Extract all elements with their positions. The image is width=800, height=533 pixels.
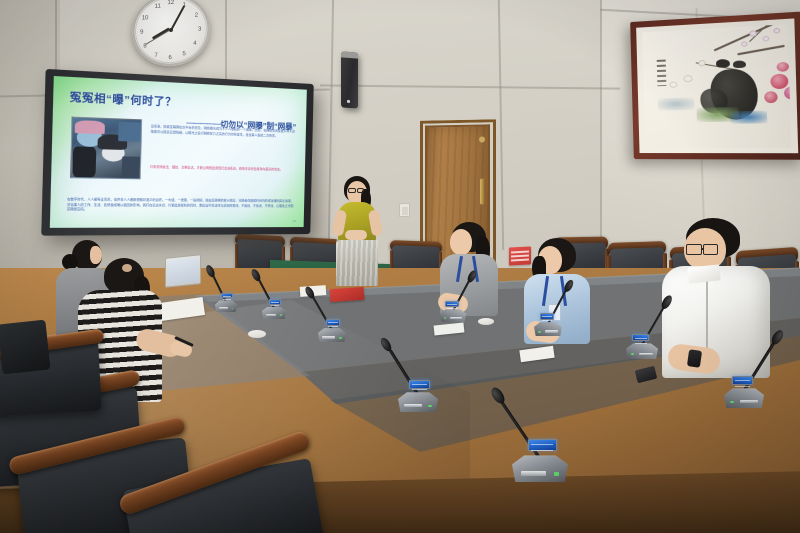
delegate-microphone[interactable]	[724, 374, 764, 408]
screen-panel: 冤冤相“曝”何时了？ —————切勿以“网曝”制“网暴” 近年来，随着互联网社交…	[50, 76, 307, 228]
delegate-microphone[interactable]	[626, 332, 658, 359]
handbag[interactable]	[0, 320, 50, 375]
eyeglasses	[703, 244, 718, 255]
speaker-led-icon	[347, 100, 350, 103]
clock-numeral: 4	[193, 41, 196, 47]
clock-numeral: 2	[195, 13, 198, 19]
wall-panel-corner	[600, 0, 602, 270]
attendee-right-1	[438, 222, 510, 342]
attendee-right-3	[662, 218, 790, 393]
slide-photo	[70, 117, 142, 180]
chinese-painting	[630, 12, 800, 160]
speaker-bracket	[341, 51, 358, 58]
delegate-microphone[interactable]	[512, 436, 568, 482]
slide-footer-paragraph: 在数字时代，人人都有麦克风，但并非人人都能把握好发声的边界。一句话、一张图、一段…	[67, 197, 295, 213]
clock-numeral: 9	[140, 29, 143, 35]
delegate-microphone[interactable]	[215, 292, 237, 312]
clock-numeral: 7	[154, 53, 157, 59]
delegate-microphone[interactable]	[534, 312, 562, 336]
conference-room-photo: 12 1 2 3 4 5 6 7 8 9 10 11	[0, 0, 800, 533]
light-switch[interactable]	[399, 203, 410, 217]
clock-numeral: 11	[155, 3, 161, 9]
clock-numeral: 3	[198, 26, 201, 32]
clock-numeral: 12	[167, 0, 174, 6]
presentation-slide: 冤冤相“曝”何时了？ —————切勿以“网曝”制“网暴” 近年来，随着互联网社交…	[50, 76, 307, 228]
delegate-microphone[interactable]	[262, 298, 286, 319]
smartwatch	[687, 349, 702, 368]
eyeglasses	[686, 244, 702, 255]
drinking-cup[interactable]	[248, 330, 266, 338]
wall-speaker	[341, 51, 358, 108]
wall-panel-seam	[225, 0, 227, 90]
shirt-collar	[687, 264, 720, 283]
delegate-microphone[interactable]	[440, 300, 466, 322]
door-handle-icon[interactable]	[480, 178, 484, 204]
delegate-microphone[interactable]	[318, 318, 346, 342]
painting-artwork	[642, 24, 791, 148]
clock-numeral: 6	[168, 55, 171, 61]
clock-numeral: 5	[182, 51, 185, 57]
presenter	[328, 176, 390, 296]
painting-signature	[657, 60, 667, 87]
projection-screen[interactable]: 冤冤相“曝”何时了？ —————切勿以“网曝”制“网暴” 近年来，随着互联网社交…	[41, 69, 314, 236]
attendee-right-2	[524, 238, 604, 368]
delegate-microphone[interactable]	[398, 378, 438, 412]
slide-page-number: 12	[293, 219, 296, 223]
clock-numeral: 10	[142, 15, 149, 21]
